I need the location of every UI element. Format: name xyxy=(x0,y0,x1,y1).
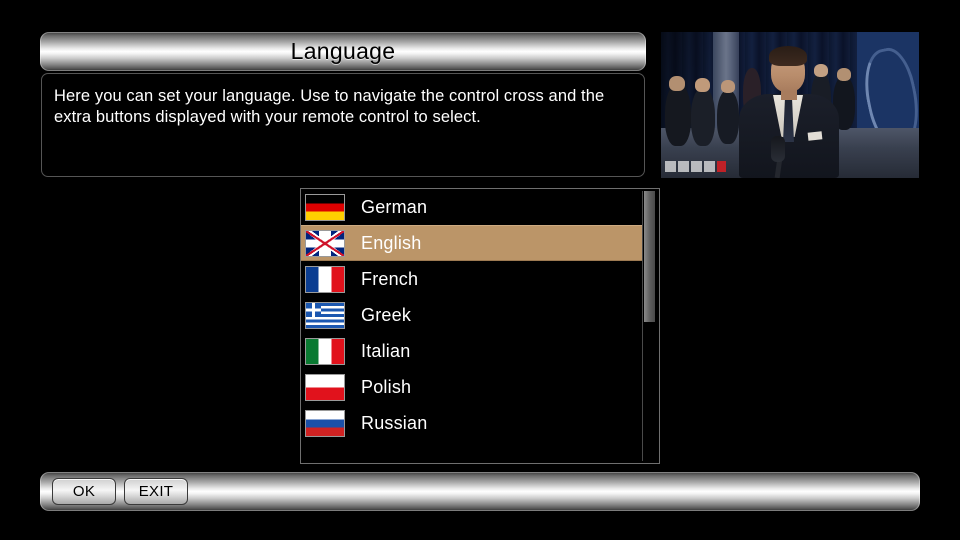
list-item-label: English xyxy=(361,233,421,254)
preview-crowd-head xyxy=(814,64,828,77)
watermark-chip xyxy=(665,161,676,172)
preview-crowd-head xyxy=(721,80,735,93)
list-item-label: French xyxy=(361,269,418,290)
watermark-chip xyxy=(691,161,702,172)
preview-crowd-figure xyxy=(691,88,715,146)
list-item[interactable]: Polish xyxy=(301,369,647,405)
flag-germany-icon xyxy=(306,195,344,220)
ok-button[interactable]: OK xyxy=(52,478,116,505)
flag-italy-icon xyxy=(306,339,344,364)
preview-microphone xyxy=(771,136,785,162)
preview-crowd-head xyxy=(837,68,851,81)
exit-button[interactable]: EXIT xyxy=(124,478,188,505)
list-item-label: Polish xyxy=(361,377,411,398)
footer-bar: OK EXIT xyxy=(40,472,920,511)
preview-crowd-head xyxy=(669,76,685,91)
flag-united-kingdom-icon xyxy=(306,231,344,256)
list-item-label: Greek xyxy=(361,305,411,326)
list-item[interactable]: Russian xyxy=(301,405,647,441)
help-text-box: Here you can set your language. Use to n… xyxy=(41,73,645,177)
watermark-chip xyxy=(704,161,715,172)
preview-reporter-hair xyxy=(769,46,807,66)
list-item[interactable]: German xyxy=(301,189,647,225)
list-item[interactable]: French xyxy=(301,261,647,297)
list-item-label: Italian xyxy=(361,341,410,362)
flag-greece-icon xyxy=(306,303,344,328)
language-list-panel: German English French Greek Italian Poli xyxy=(300,188,660,464)
list-item[interactable]: Italian xyxy=(301,333,647,369)
list-item-label: German xyxy=(361,197,427,218)
news-channel-watermark xyxy=(665,160,739,173)
watermark-chip-accent xyxy=(717,161,726,172)
list-item-label: Russian xyxy=(361,413,427,434)
flag-russia-icon xyxy=(306,411,344,436)
title-bar: Language xyxy=(40,32,646,71)
flag-france-icon xyxy=(306,267,344,292)
preview-crowd-figure xyxy=(717,90,739,144)
preview-crowd-head xyxy=(695,78,710,92)
preview-reporter-pocket-square xyxy=(808,131,823,140)
language-list: German English French Greek Italian Poli xyxy=(301,189,647,441)
scrollbar-thumb[interactable] xyxy=(644,191,655,322)
page-title: Language xyxy=(291,38,396,65)
preview-crowd-figure xyxy=(665,84,691,146)
list-scrollbar[interactable] xyxy=(642,191,655,461)
list-item[interactable]: Greek xyxy=(301,297,647,333)
list-item[interactable]: English xyxy=(301,225,643,261)
video-preview[interactable] xyxy=(661,32,919,178)
help-text: Here you can set your language. Use to n… xyxy=(54,86,630,128)
tv-settings-screen: Language Here you can set your language.… xyxy=(0,0,960,540)
watermark-chip xyxy=(678,161,689,172)
flag-poland-icon xyxy=(306,375,344,400)
